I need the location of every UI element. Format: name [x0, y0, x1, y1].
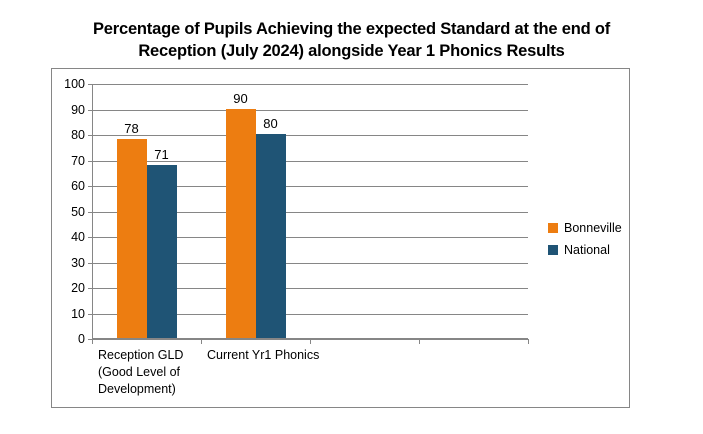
gridline-90 [92, 110, 528, 111]
category-label-0-line-1: (Good Level of [98, 364, 247, 381]
y-tick-label-30: 30 [71, 256, 85, 270]
y-tick-label-90: 90 [71, 103, 85, 117]
bar-bonneville-1[interactable] [226, 109, 256, 339]
y-tick-label-80: 80 [71, 128, 85, 142]
y-tick-label-20: 20 [71, 281, 85, 295]
legend-swatch-bonneville [548, 223, 558, 233]
chart-title: Percentage of Pupils Achieving the expec… [40, 18, 663, 62]
y-tick-label-0: 0 [78, 332, 85, 346]
legend-label-national: National [564, 243, 610, 257]
chart-title-line-1: Percentage of Pupils Achieving the expec… [40, 18, 663, 40]
y-tick-label-100: 100 [64, 77, 85, 91]
category-label-1: Current Yr1 Phonics [207, 347, 356, 364]
legend-swatch-national [548, 245, 558, 255]
bar-value-label-national-0: 71 [135, 147, 189, 162]
x-tick-mark-3 [419, 339, 420, 344]
category-label-1-line-0: Current Yr1 Phonics [207, 347, 356, 364]
x-tick-mark-0 [92, 339, 93, 344]
legend-item-national[interactable]: National [548, 239, 622, 261]
plot-area: 0102030405060708090100 78719080 [92, 84, 528, 339]
chart-legend: Bonneville National [548, 217, 622, 261]
bar-value-label-bonneville-0: 78 [105, 121, 159, 136]
chart-title-line-2: Reception (July 2024) alongside Year 1 P… [40, 40, 663, 62]
gridline-100 [92, 84, 528, 85]
legend-item-bonneville[interactable]: Bonneville [548, 217, 622, 239]
bar-value-label-national-1: 80 [244, 116, 298, 131]
y-tick-label-60: 60 [71, 179, 85, 193]
bar-value-label-bonneville-1: 90 [214, 91, 268, 106]
y-tick-label-10: 10 [71, 307, 85, 321]
y-tick-label-70: 70 [71, 154, 85, 168]
bar-bonneville-0[interactable] [117, 139, 147, 338]
category-label-0-line-2: Development) [98, 381, 247, 398]
bar-national-1[interactable] [256, 134, 286, 338]
x-tick-mark-1 [201, 339, 202, 344]
y-tick-label-40: 40 [71, 230, 85, 244]
chart-frame: 0102030405060708090100 78719080 Receptio… [51, 68, 630, 408]
x-tick-mark-4 [528, 339, 529, 344]
x-tick-mark-2 [310, 339, 311, 344]
legend-label-bonneville: Bonneville [564, 221, 622, 235]
y-tick-label-50: 50 [71, 205, 85, 219]
y-axis-line [92, 84, 93, 339]
bar-national-0[interactable] [147, 165, 177, 338]
